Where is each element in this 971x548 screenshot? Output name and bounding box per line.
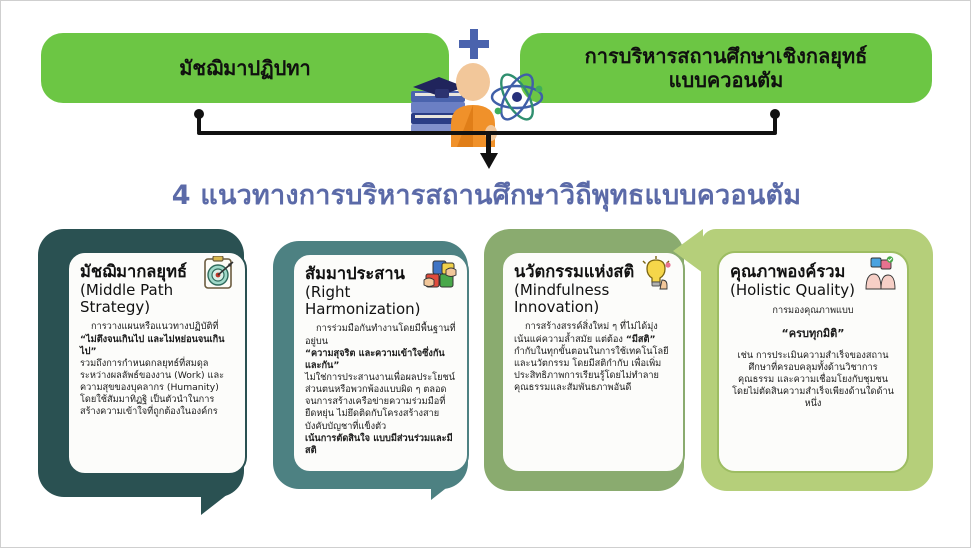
bracket-right-dot [770, 109, 780, 119]
card-1-body-2: รวมถึงการกำหนดกลยุทธ์ที่สมดุลระหว่างผลลั… [80, 358, 234, 419]
target-clipboard-icon [200, 256, 236, 290]
card-3-header: นวัตกรรมแห่งสติ (Mindfulness Innovation) [514, 262, 672, 315]
page-title: 4 แนวทางการบริหารสถานศึกษาวิถีพุทธแบบควอ… [1, 173, 971, 216]
card-holistic-quality[interactable]: คุณภาพองค์รวม (Holistic Quality) การมองค… [717, 251, 909, 473]
card-4-body-2: เช่น การประเมินความสำเร็จของสถานศึกษาที่… [730, 350, 896, 411]
card-mindfulness-innovation[interactable]: นวัตกรรมแห่งสติ (Mindfulness Innovation)… [501, 251, 685, 473]
card-middle-path-strategy[interactable]: มัชฌิมากลยุทธ์ (Middle Path Strategy) กา… [67, 251, 247, 475]
card-3-body: การสร้างสรรค์สิ่งใหม่ ๆ ที่ไม่ได้มุ่งเน้… [514, 321, 672, 394]
card-1-body: การวางแผนหรือแนวทางปฏิบัติที่ “ไม่ตึงจนเ… [80, 321, 234, 418]
card-4-body-1: การมองคุณภาพแบบ [730, 305, 896, 317]
card-1-body-1: การวางแผนหรือแนวทางปฏิบัติที่ [80, 321, 234, 333]
card-1-header: มัชฌิมากลยุทธ์ (Middle Path Strategy) [80, 262, 234, 315]
header-box-left: มัชฌิมาปฏิปทา [41, 33, 449, 103]
header-right-label-line2: แบบควอนตัม [585, 68, 868, 92]
card-1-body-quote: “ไม่ตึงจนเกินไป และไม่หย่อนจนเกินไป” [80, 334, 225, 357]
card-2-body-2: ไม่ใช่การประสานงานเพื่อผลประโยชน์ส่วนตนห… [305, 372, 456, 433]
card-2-title-th: สัมมาประสาน [305, 264, 405, 283]
card-2-body: การร่วมมือกันทำงานโดยมีพื้นฐานที่อยู่บน … [305, 323, 456, 457]
card-1-title-th: มัชฌิมากลยุทธ์ [80, 262, 187, 281]
card-4-title-th: คุณภาพองค์รวม [730, 262, 845, 281]
puzzle-hands-icon [422, 258, 458, 292]
arrow-head [480, 153, 498, 169]
arrow-shaft [486, 131, 491, 155]
header-right-label-line1: การบริหารสถานศึกษาเชิงกลยุทธ์ [585, 44, 868, 68]
card-2-header: สัมมาประสาน (Right Harmonization) [305, 264, 456, 317]
bracket-left-dot [194, 109, 204, 119]
header-left-label: มัชฌิมาปฏิปทา [179, 56, 311, 80]
header-box-right: การบริหารสถานศึกษาเชิงกลยุทธ์ แบบควอนตัม [520, 33, 932, 103]
card-3-body-2: กำกับในทุกขั้นตอนในการใช้เทคโนโลยีและนวั… [514, 346, 672, 395]
plus-icon [459, 29, 489, 59]
lightbulb-icon [638, 256, 674, 290]
card-4-header: คุณภาพองค์รวม (Holistic Quality) [730, 262, 896, 299]
card-4-body: การมองคุณภาพแบบ “ครบทุกมิติ” เช่น การประ… [730, 305, 896, 410]
infographic-canvas: มัชฌิมาปฏิปทา การบริหารสถานศึกษาเชิงกลยุ… [0, 0, 971, 548]
card-3-title-th: นวัตกรรมแห่งสติ [514, 262, 634, 281]
card-2-body-1: การร่วมมือกันทำงานโดยมีพื้นฐานที่อยู่บน [305, 323, 456, 347]
heads-idea-icon [862, 256, 898, 290]
down-arrow-icon [479, 131, 499, 169]
card-3-body-quote: “มีสติ” [626, 334, 656, 345]
card-2-body-3: เน้นการตัดสินใจ แบบมีส่วนร่วมและมีสติ [305, 433, 453, 456]
card-4-body-quote: “ครบทุกมิติ” [730, 327, 896, 342]
card-right-harmonization[interactable]: สัมมาประสาน (Right Harmonization) การร่ว… [292, 253, 469, 473]
card-2-body-quote: “ความสุจริต และความเข้าใจซึ่งกันและกัน” [305, 348, 445, 371]
